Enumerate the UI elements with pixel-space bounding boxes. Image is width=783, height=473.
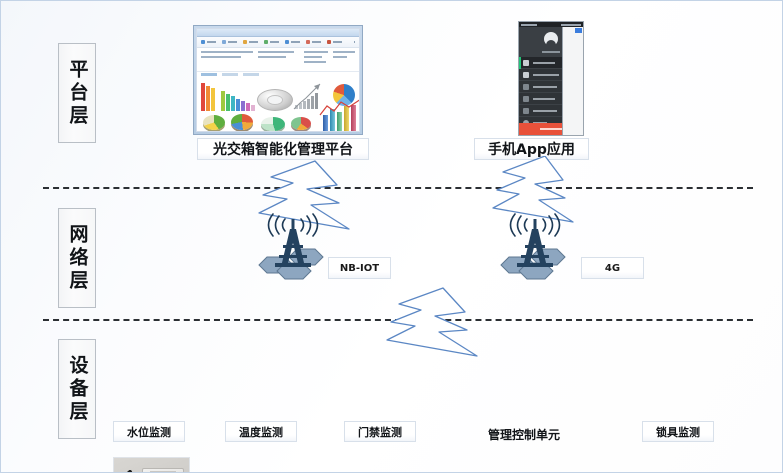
fourg-caption: 4G xyxy=(581,257,644,279)
alert-icon xyxy=(523,84,529,90)
chart-pie-3d-3 xyxy=(261,117,285,131)
menu-item-label xyxy=(533,74,559,76)
chart-pie-3d-1 xyxy=(203,115,225,130)
tab[interactable] xyxy=(201,73,217,76)
tab[interactable] xyxy=(222,73,238,76)
toolbar-button[interactable] xyxy=(327,40,342,44)
dashboard-window xyxy=(196,28,360,132)
toolbar-button[interactable] xyxy=(201,40,216,44)
water-level-photo xyxy=(113,457,190,473)
menu-item-label xyxy=(533,62,555,64)
lock-monitor-caption: 锁具监测 xyxy=(642,421,714,442)
filter-field[interactable] xyxy=(201,51,253,68)
chart-bar-descending xyxy=(201,83,255,111)
grid-icon xyxy=(523,72,529,78)
dashboard-tabs[interactable] xyxy=(197,72,359,79)
toolbar-button[interactable] xyxy=(222,40,237,44)
layer-label-network: 网络层 xyxy=(58,208,96,308)
chart-grey-ellipse-hole xyxy=(267,95,283,105)
filter-field[interactable] xyxy=(333,51,355,68)
alert-icon xyxy=(523,108,529,114)
mobile-app-screenshot xyxy=(518,21,584,136)
toolbar-button[interactable] xyxy=(243,40,258,44)
dashboard-filter-form[interactable] xyxy=(197,48,359,72)
dashboard-titlebar xyxy=(197,29,359,37)
separator-platform-network xyxy=(43,187,753,189)
management-platform-caption: 光交箱智能化管理平台 xyxy=(197,138,369,160)
filter-field[interactable] xyxy=(304,51,328,68)
avatar xyxy=(544,32,558,46)
active-item-indicator xyxy=(519,57,521,69)
access-control-caption: 门禁监测 xyxy=(344,421,416,442)
layer-label-network-text: 网络层 xyxy=(68,224,87,293)
dashboard-charts-area xyxy=(197,79,359,131)
lightning-bolt-icon xyxy=(379,286,489,361)
toolbar-button[interactable] xyxy=(306,40,321,44)
water-level-caption: 水位监测 xyxy=(113,421,185,442)
filter-field[interactable] xyxy=(258,51,294,68)
tab[interactable] xyxy=(243,73,259,76)
alert-icon xyxy=(523,96,529,102)
nbiot-caption: NB-IOT xyxy=(328,257,391,279)
menu-item-label xyxy=(533,110,557,112)
menu-item-label xyxy=(533,98,555,100)
layer-label-platform: 平台层 xyxy=(58,43,96,143)
control-unit-caption: 管理控制单元 xyxy=(474,424,574,445)
layer-label-platform-text: 平台层 xyxy=(68,59,87,128)
dashboard-toolbar xyxy=(197,37,359,48)
menu-item-label xyxy=(533,86,557,88)
layer-label-device: 设备层 xyxy=(58,339,96,439)
diagram-canvas: 平台层 网络层 设备层 xyxy=(0,0,783,473)
cell-tower-icon xyxy=(491,213,583,285)
chart-pie-3d-4 xyxy=(291,117,311,130)
toolbar-button[interactable] xyxy=(285,40,300,44)
chat-icon xyxy=(523,60,529,66)
chart-pie-3d-2 xyxy=(231,114,253,130)
profile-name xyxy=(542,51,560,53)
toolbar-button[interactable] xyxy=(264,40,279,44)
management-platform-screenshot xyxy=(193,25,363,135)
panel-badge xyxy=(575,28,582,33)
phone-content-panel xyxy=(562,27,583,135)
chart-red-line xyxy=(319,97,360,119)
layer-label-device-text: 设备层 xyxy=(68,355,87,424)
temperature-caption: 温度监测 xyxy=(225,421,297,442)
